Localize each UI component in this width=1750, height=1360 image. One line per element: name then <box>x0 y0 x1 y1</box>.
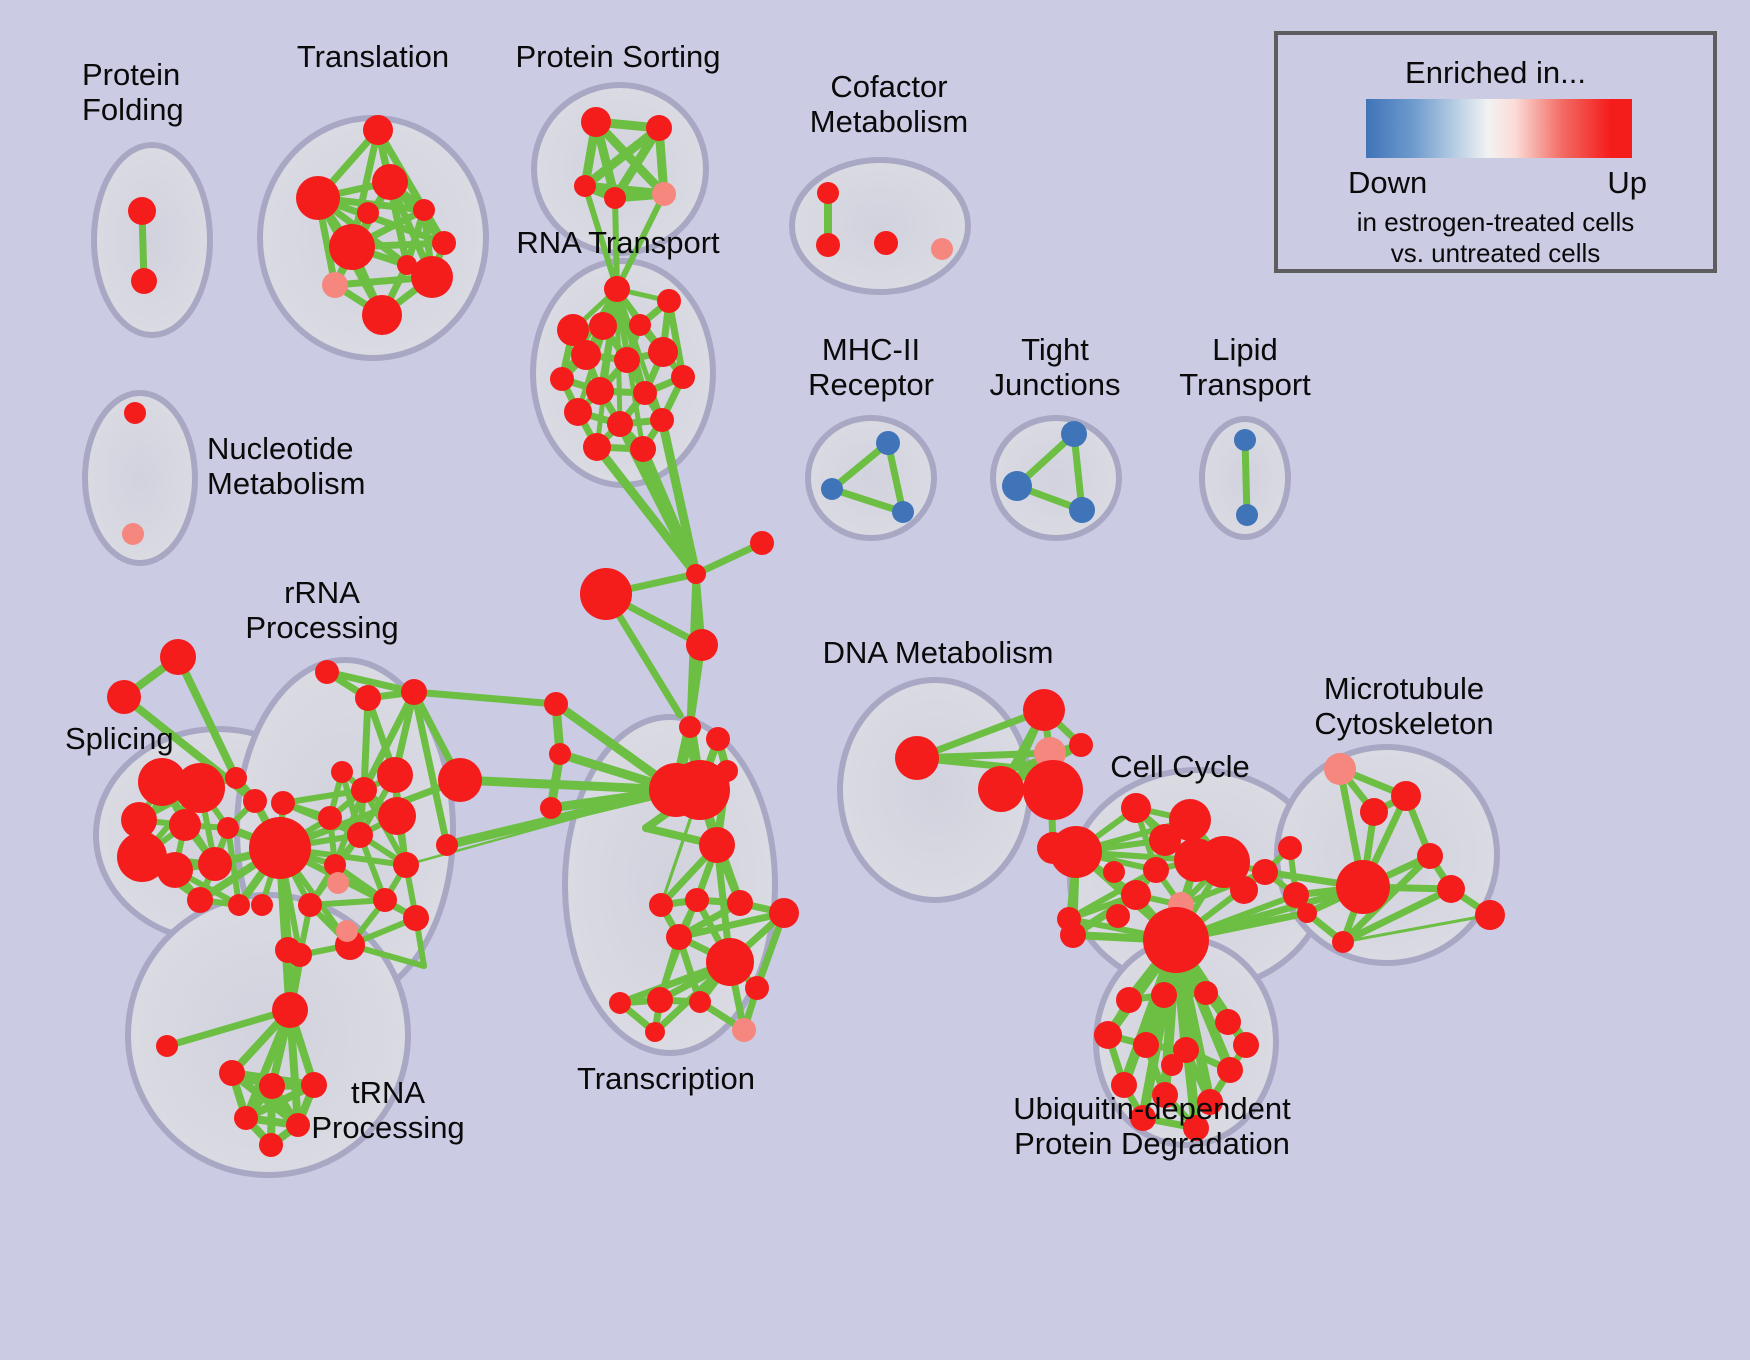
label-translation: Translation <box>297 40 449 75</box>
label-transcription: Transcription <box>577 1062 755 1097</box>
enrichment-network-figure: ProteinFolding Translation Protein Sorti… <box>0 0 1750 1360</box>
label-mhc-ii-receptor: MHC-IIReceptor <box>808 333 934 402</box>
legend-panel: Enriched in... Down Up in estrogen-treat… <box>1274 31 1717 273</box>
label-nucleotide-metabolism: NucleotideMetabolism <box>207 432 366 501</box>
label-dna-metabolism: DNA Metabolism <box>823 636 1054 671</box>
label-protein-folding: ProteinFolding <box>82 58 184 127</box>
label-rna-transport: RNA Transport <box>516 226 719 261</box>
hull-microtubule <box>1277 747 1497 963</box>
label-trna-processing: tRNAProcessing <box>311 1076 464 1145</box>
label-rrna-processing: rRNAProcessing <box>245 576 398 645</box>
hull-mhcii <box>808 418 934 538</box>
hull-protein-folding <box>94 145 210 335</box>
label-cofactor-metabolism: CofactorMetabolism <box>810 70 969 139</box>
label-microtubule-cytoskeleton: MicrotubuleCytoskeleton <box>1314 672 1493 741</box>
hull-cofactor <box>792 160 968 292</box>
label-ubiquitin-degradation: Ubiquitin-dependentProtein Degradation <box>1013 1092 1291 1161</box>
label-protein-sorting: Protein Sorting <box>515 40 720 75</box>
label-cell-cycle: Cell Cycle <box>1110 750 1250 785</box>
label-tight-junctions: TightJunctions <box>990 333 1121 402</box>
label-lipid-transport: LipidTransport <box>1179 333 1311 402</box>
label-splicing: Splicing <box>65 722 174 757</box>
legend-low-label: Down <box>1348 165 1427 201</box>
legend-color-gradient <box>1366 99 1632 158</box>
legend-title: Enriched in... <box>1278 55 1713 91</box>
legend-high-label: Up <box>1607 165 1647 201</box>
legend-subtitle: in estrogen-treated cellsvs. untreated c… <box>1278 207 1713 268</box>
